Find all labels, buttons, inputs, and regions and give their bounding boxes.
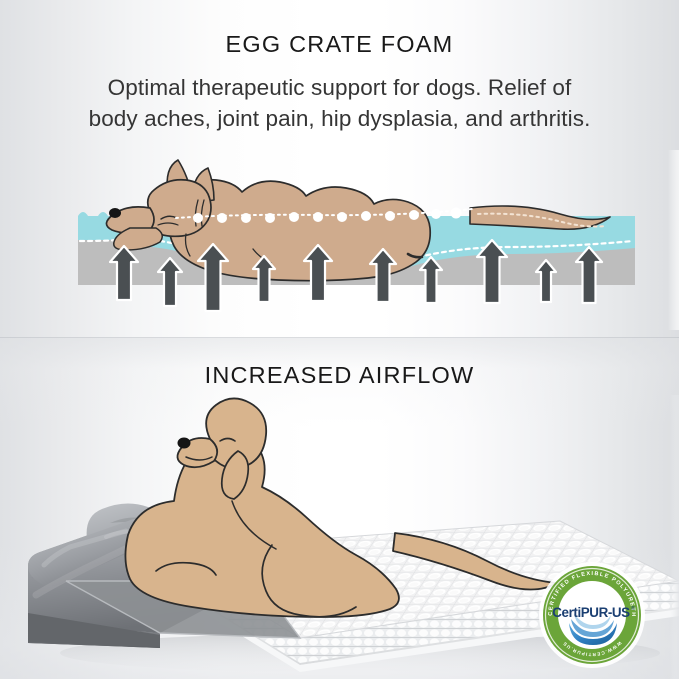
panel-egg-crate-foam: EGG CRATE FOAM Optimal therapeutic suppo… [0,0,679,338]
subtitle-line-2: body aches, joint pain, hip dysplasia, a… [0,103,679,134]
dog-nose-icon [178,438,191,449]
svg-text:®: ® [631,605,635,612]
dog-nose-icon [109,208,121,218]
subtitle-line-1: Optimal therapeutic support for dogs. Re… [0,72,679,103]
badge-brand-wordmark: CertiPUR-US ® [552,605,635,620]
panel-subtitle: Optimal therapeutic support for dogs. Re… [0,72,679,134]
certipur-us-badge: CONTAINS CERTIFIED FLEXIBLE POLYURETHANE… [538,561,646,669]
dog-foam-cross-section-illustration [0,150,679,330]
panel-divider [0,337,679,338]
svg-text:CertiPUR-US: CertiPUR-US [552,605,630,620]
infographic-root: EGG CRATE FOAM Optimal therapeutic suppo… [0,0,679,679]
panel-title-egg-crate-foam: EGG CRATE FOAM [0,31,679,58]
panel-title-increased-airflow: INCREASED AIRFLOW [0,362,679,389]
